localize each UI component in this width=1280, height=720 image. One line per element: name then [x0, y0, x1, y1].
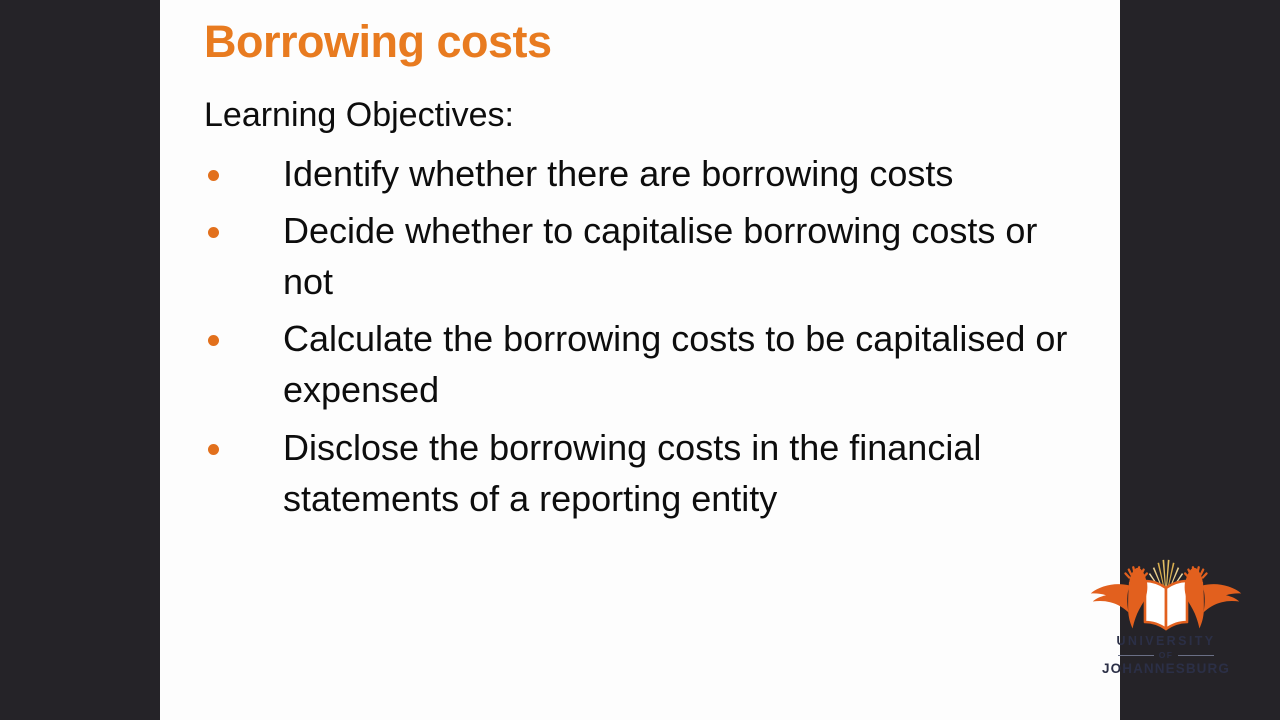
list-item-text: Disclose the borrowing costs in the fina… [283, 427, 981, 519]
learning-objectives-list: Identify whether there are borrowing cos… [204, 148, 1094, 530]
letterbox-bar-left [0, 0, 160, 720]
uj-open-book-icon [1145, 581, 1187, 629]
university-of-johannesburg-logo: UNIVERSITY OF JOHANNESBURG [1090, 552, 1242, 678]
uj-wordmark: UNIVERSITY OF JOHANNESBURG [1090, 634, 1242, 677]
uj-wordmark-line-university: UNIVERSITY [1090, 634, 1242, 649]
uj-bird-left-icon [1091, 567, 1148, 628]
video-viewport: Borrowing costs Learning Objectives: Ide… [0, 0, 1280, 720]
bullet-dot-icon [208, 444, 219, 455]
uj-bird-right-icon [1185, 567, 1242, 628]
bullet-dot-icon [208, 335, 219, 346]
list-item-text: Decide whether to capitalise borrowing c… [283, 210, 1037, 302]
uj-wordmark-connector-row: OF [1090, 650, 1242, 660]
bullet-dot-icon [208, 227, 219, 238]
list-item-text: Identify whether there are borrowing cos… [283, 153, 953, 194]
uj-crest-icon [1090, 552, 1242, 634]
uj-wordmark-connector: OF [1159, 650, 1174, 660]
list-item: Calculate the borrowing costs to be capi… [204, 313, 1094, 415]
uj-wordmark-line-johannesburg: JOHANNESBURG [1090, 661, 1242, 677]
uj-rule-left [1118, 655, 1154, 656]
list-item: Decide whether to capitalise borrowing c… [204, 205, 1094, 307]
list-item-text: Calculate the borrowing costs to be capi… [283, 318, 1067, 410]
list-item: Disclose the borrowing costs in the fina… [204, 422, 1094, 524]
list-item: Identify whether there are borrowing cos… [204, 148, 1094, 199]
uj-rule-right [1178, 655, 1214, 656]
bullet-dot-icon [208, 170, 219, 181]
learning-objectives-label: Learning Objectives: [204, 96, 514, 135]
slide-title: Borrowing costs [204, 16, 552, 68]
presentation-slide: Borrowing costs Learning Objectives: Ide… [160, 0, 1120, 720]
